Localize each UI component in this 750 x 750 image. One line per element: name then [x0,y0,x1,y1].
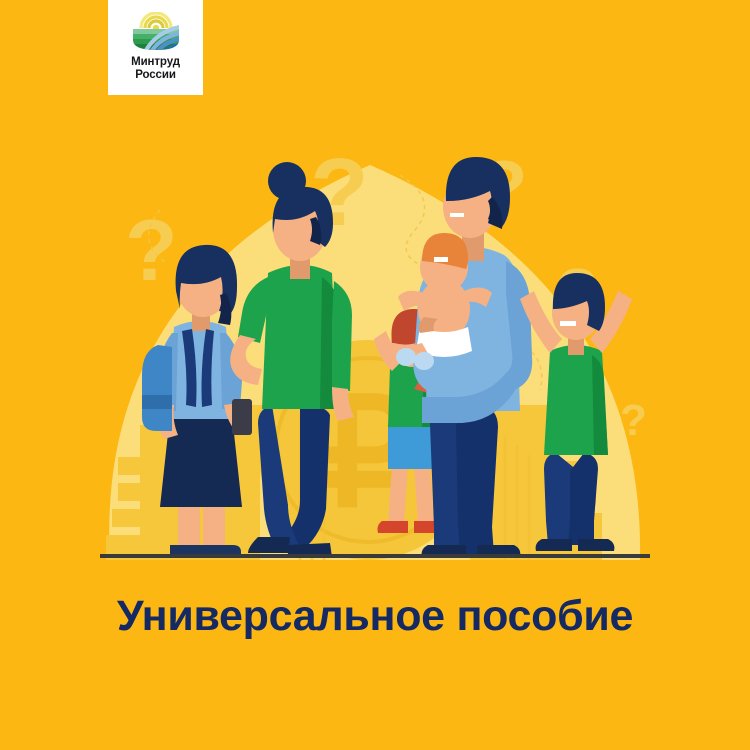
logo-text-line2: России [131,69,180,82]
logo-text: Минтруд России [131,56,180,82]
ground-line [100,554,650,558]
illustration-scene: ? ? ? ? ? ? ? ₽ [0,105,750,560]
mintrud-logo-icon [127,10,185,52]
hair-bun [268,162,306,200]
poster-canvas: Минтруд России ? ? ? ? ? ? ? [0,0,750,750]
logo-card: Минтруд России [108,0,203,95]
baby-sock-right [414,352,434,370]
baby-sock-left [396,348,416,366]
family-illustration: ? ? ? ? ? ? ? ₽ [0,105,750,560]
svg-text:?: ? [620,396,647,445]
svg-text:?: ? [125,203,178,299]
phone-icon [232,399,252,435]
logo-text-line1: Минтруд [131,56,180,69]
page-title: Универсальное пособие [0,592,750,641]
